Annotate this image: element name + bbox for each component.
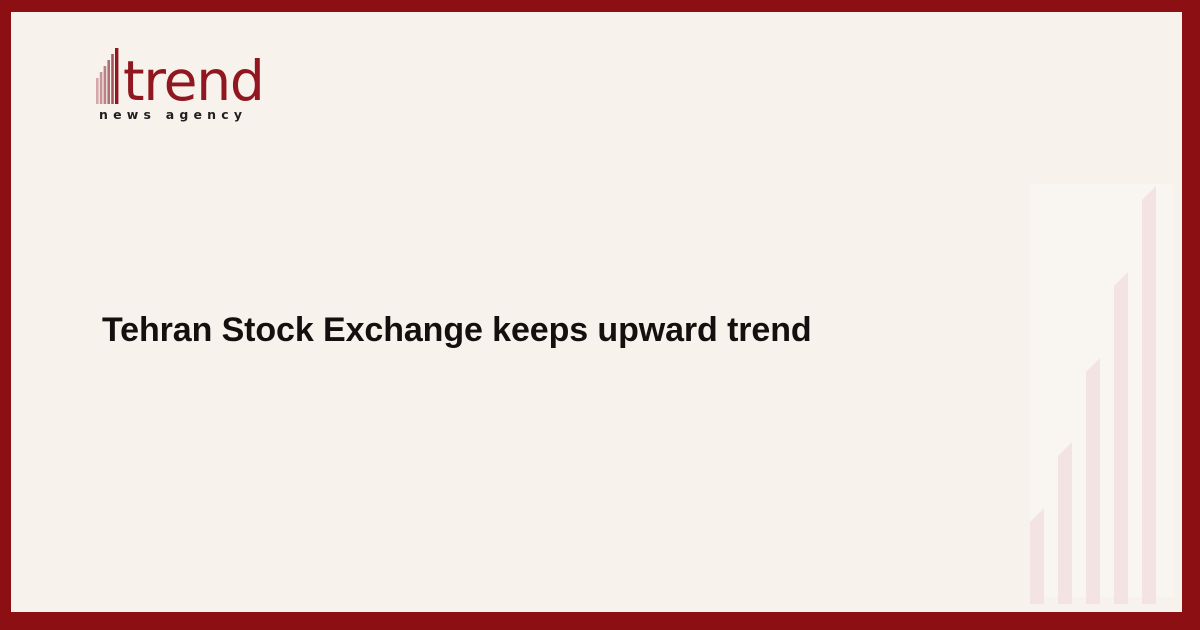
logo-wordmark: trend xyxy=(123,56,264,107)
ascending-bars-icon xyxy=(96,48,122,104)
og-image-card: trend news agency Tehran Stock Exchange … xyxy=(0,0,1200,630)
logo-lockup: trend xyxy=(96,42,296,104)
page-title: Tehran Stock Exchange keeps upward trend xyxy=(102,309,922,352)
card-canvas: trend news agency Tehran Stock Exchange … xyxy=(11,12,1182,612)
ascending-bar-chart-icon xyxy=(1014,172,1174,612)
decorative-bar-chart xyxy=(1014,172,1174,597)
trend-news-agency-logo[interactable]: trend news agency xyxy=(96,42,296,142)
